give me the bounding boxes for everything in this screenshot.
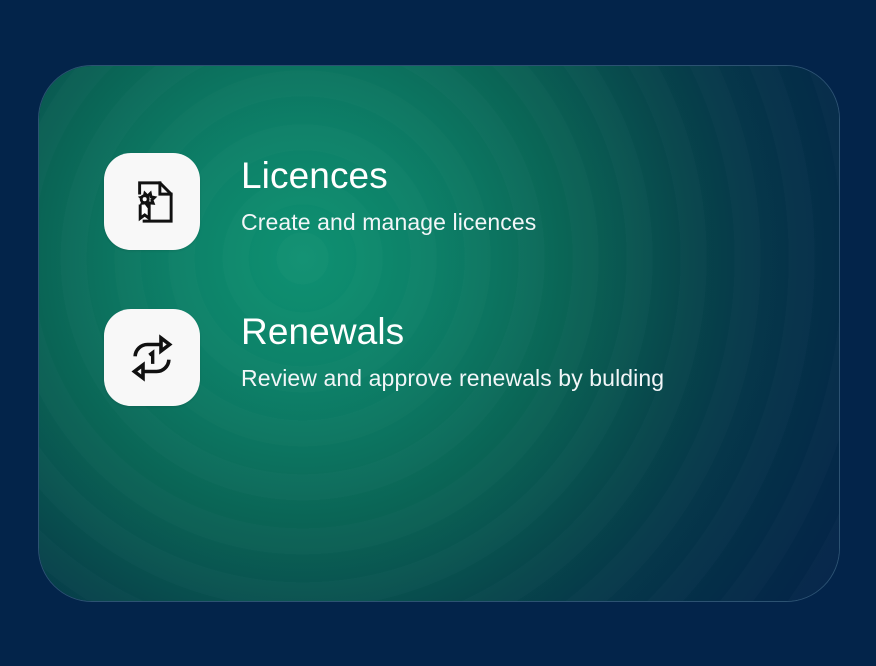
- certificate-document-icon: [125, 175, 179, 229]
- licences-title: Licences: [241, 154, 536, 198]
- app-screen: Licences Create and manage licences: [0, 0, 876, 666]
- licences-text-block: Licences Create and manage licences: [241, 153, 536, 237]
- licences-icon-tile: [104, 153, 200, 250]
- renewals-subtitle: Review and approve renewals by bulding: [241, 363, 664, 393]
- repeat-once-icon: [125, 331, 179, 385]
- panel-content: Licences Create and manage licences: [39, 66, 839, 601]
- renewals-text-block: Renewals Review and approve renewals by …: [241, 309, 664, 393]
- renewals-title: Renewals: [241, 310, 664, 354]
- menu-item-licences[interactable]: Licences Create and manage licences: [104, 153, 536, 250]
- licences-subtitle: Create and manage licences: [241, 207, 536, 237]
- menu-item-renewals[interactable]: Renewals Review and approve renewals by …: [104, 309, 664, 406]
- menu-panel: Licences Create and manage licences: [38, 65, 840, 602]
- renewals-icon-tile: [104, 309, 200, 406]
